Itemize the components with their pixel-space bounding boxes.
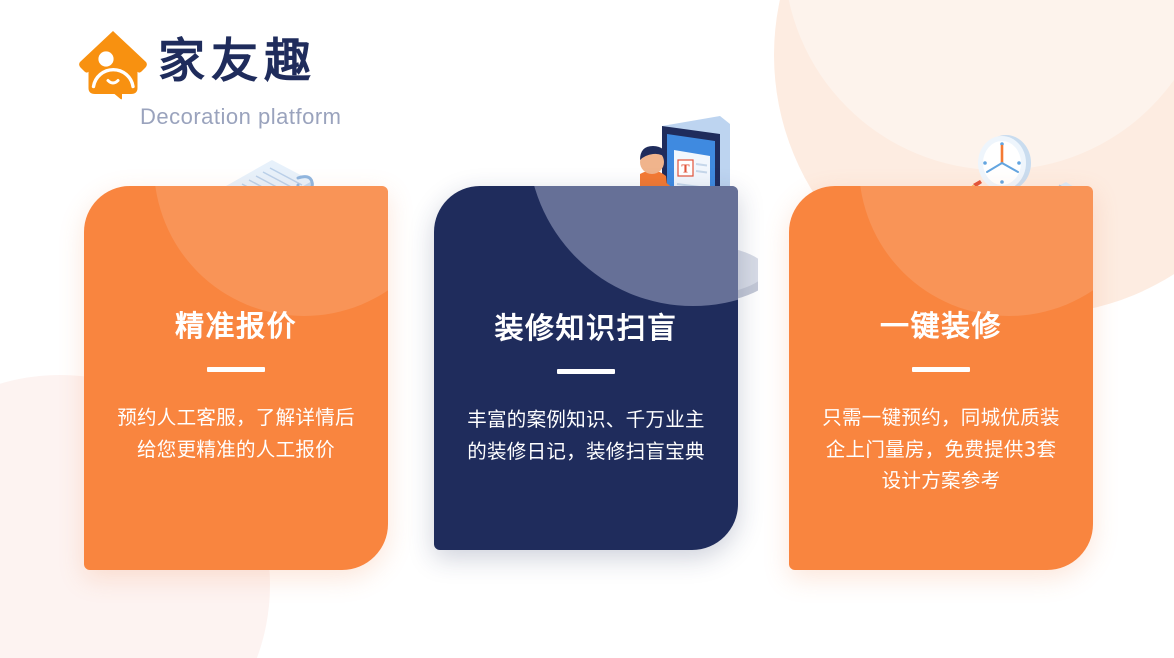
brand-tagline: Decoration platform bbox=[140, 104, 341, 130]
card-divider bbox=[912, 367, 970, 372]
brand-name: 家友趣 bbox=[158, 38, 317, 91]
house-logo-icon bbox=[78, 28, 148, 100]
card-description: 丰富的案例知识、千万业主的装修日记，装修扫盲宝典 bbox=[460, 404, 712, 467]
slide-canvas: 家友趣 Decoration platform bbox=[0, 0, 1174, 658]
card-title: 一键装修 bbox=[880, 312, 1002, 341]
card-divider bbox=[207, 367, 265, 372]
svg-text:T: T bbox=[681, 163, 690, 176]
card-title: 精准报价 bbox=[175, 312, 297, 341]
card-title: 装修知识扫盲 bbox=[494, 314, 677, 343]
card-description: 预约人工客服，了解详情后给您更精准的人工报价 bbox=[112, 402, 360, 465]
feature-card-one-click-decoration[interactable]: 一键装修 只需一键预约，同城优质装企上门量房，免费提供3套设计方案参考 bbox=[789, 186, 1093, 570]
card-divider bbox=[557, 369, 615, 374]
feature-card-precise-quote[interactable]: 精准报价 预约人工客服，了解详情后给您更精准的人工报价 bbox=[84, 186, 388, 570]
feature-card-decoration-knowledge[interactable]: 装修知识扫盲 丰富的案例知识、千万业主的装修日记，装修扫盲宝典 bbox=[434, 186, 738, 550]
brand-logo[interactable]: 家友趣 Decoration platform bbox=[78, 28, 341, 130]
card-description: 只需一键预约，同城优质装企上门量房，免费提供3套设计方案参考 bbox=[817, 402, 1065, 497]
